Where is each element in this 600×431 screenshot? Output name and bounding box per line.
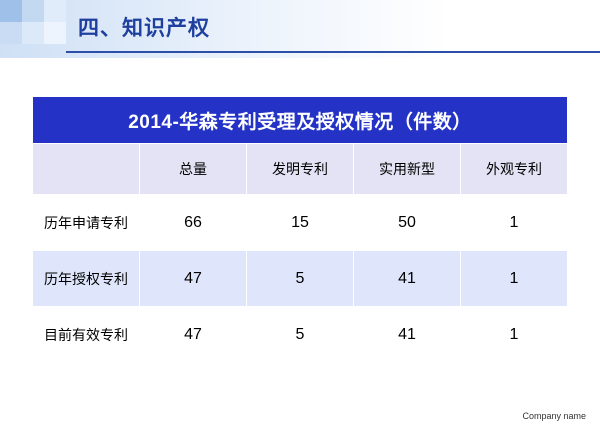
- cell-valid-total: 47: [140, 307, 247, 363]
- table-title-row: 2014-华森专利受理及授权情况（件数）: [33, 97, 568, 144]
- decor-square: [44, 0, 66, 22]
- cell-granted-design: 1: [461, 251, 568, 307]
- decor-square: [22, 22, 44, 44]
- patent-table: 2014-华森专利受理及授权情况（件数） 总量 发明专利 实用新型 外观专利 历…: [32, 96, 568, 363]
- header-divider: [66, 51, 600, 53]
- cell-applied-invention: 15: [247, 195, 354, 251]
- row-label-valid: 目前有效专利: [33, 307, 140, 363]
- cell-valid-invention: 5: [247, 307, 354, 363]
- column-header-invention: 发明专利: [247, 144, 354, 195]
- decor-square: [44, 22, 66, 44]
- row-label-applied: 历年申请专利: [33, 195, 140, 251]
- cell-granted-total: 47: [140, 251, 247, 307]
- page-title: 四、知识产权: [78, 12, 210, 42]
- decor-square: [0, 0, 22, 22]
- table-header-row: 总量 发明专利 实用新型 外观专利: [33, 144, 568, 195]
- cell-applied-total: 66: [140, 195, 247, 251]
- footer-company-name: Company name: [522, 411, 586, 421]
- column-header-utility: 实用新型: [354, 144, 461, 195]
- decor-square: [22, 0, 44, 22]
- table-title: 2014-华森专利受理及授权情况（件数）: [33, 97, 568, 144]
- cell-valid-design: 1: [461, 307, 568, 363]
- patent-table-container: 2014-华森专利受理及授权情况（件数） 总量 发明专利 实用新型 外观专利 历…: [32, 96, 568, 363]
- row-label-granted: 历年授权专利: [33, 251, 140, 307]
- cell-applied-design: 1: [461, 195, 568, 251]
- cell-applied-utility: 50: [354, 195, 461, 251]
- cell-valid-utility: 41: [354, 307, 461, 363]
- table-row: 历年授权专利 47 5 41 1: [33, 251, 568, 307]
- cell-granted-invention: 5: [247, 251, 354, 307]
- slide-header: 四、知识产权: [0, 0, 600, 58]
- table-row: 目前有效专利 47 5 41 1: [33, 307, 568, 363]
- table-row: 历年申请专利 66 15 50 1: [33, 195, 568, 251]
- column-header-design: 外观专利: [461, 144, 568, 195]
- cell-granted-utility: 41: [354, 251, 461, 307]
- table-corner-cell: [33, 144, 140, 195]
- decor-square: [0, 22, 22, 44]
- column-header-total: 总量: [140, 144, 247, 195]
